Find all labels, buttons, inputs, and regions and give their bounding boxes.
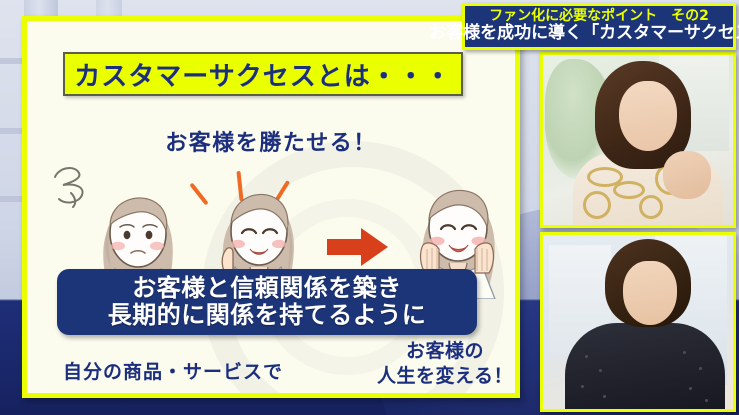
video-scene-top: [543, 55, 733, 225]
speaker-top-face: [619, 81, 677, 151]
key-message-line-2: 長期的に関係を持てるように: [108, 302, 427, 329]
bottom-right-line-2: 人生を変える！: [365, 364, 520, 389]
slide-subtitle: お客様を勝たせる！: [27, 125, 515, 157]
video-scene-bottom: [543, 235, 733, 409]
topic-banner-line-2: お客様を成功に導く「カスタマーサクセス」: [429, 24, 739, 44]
bottom-left-text: 自分の商品・サービスで: [63, 357, 283, 384]
slide-title: カスタマーサクセスとは・・・: [74, 56, 451, 93]
speaker-top-hand: [663, 151, 711, 199]
slide-title-box: カスタマーサクセスとは・・・: [63, 52, 463, 96]
key-message-line-1: お客様と信頼関係を築き: [132, 275, 402, 302]
presentation-slide: カスタマーサクセスとは・・・ お客様を勝たせる！: [22, 16, 520, 398]
video-panel-speaker-bottom: [540, 232, 736, 412]
speaker-bottom-face: [623, 261, 677, 325]
bottom-right-line-1: お客様の: [365, 339, 520, 364]
bottom-right-text: お客様の 人生を変える！: [365, 339, 520, 388]
video-panel-speaker-top: [540, 52, 736, 228]
topic-banner: ファン化に必要なポイント その2 お客様を成功に導く「カスタマーサクセス」: [462, 3, 736, 50]
right-arrow-icon: [327, 227, 389, 267]
key-message-banner: お客様と信頼関係を築き 長期的に関係を持てるように: [57, 269, 477, 335]
